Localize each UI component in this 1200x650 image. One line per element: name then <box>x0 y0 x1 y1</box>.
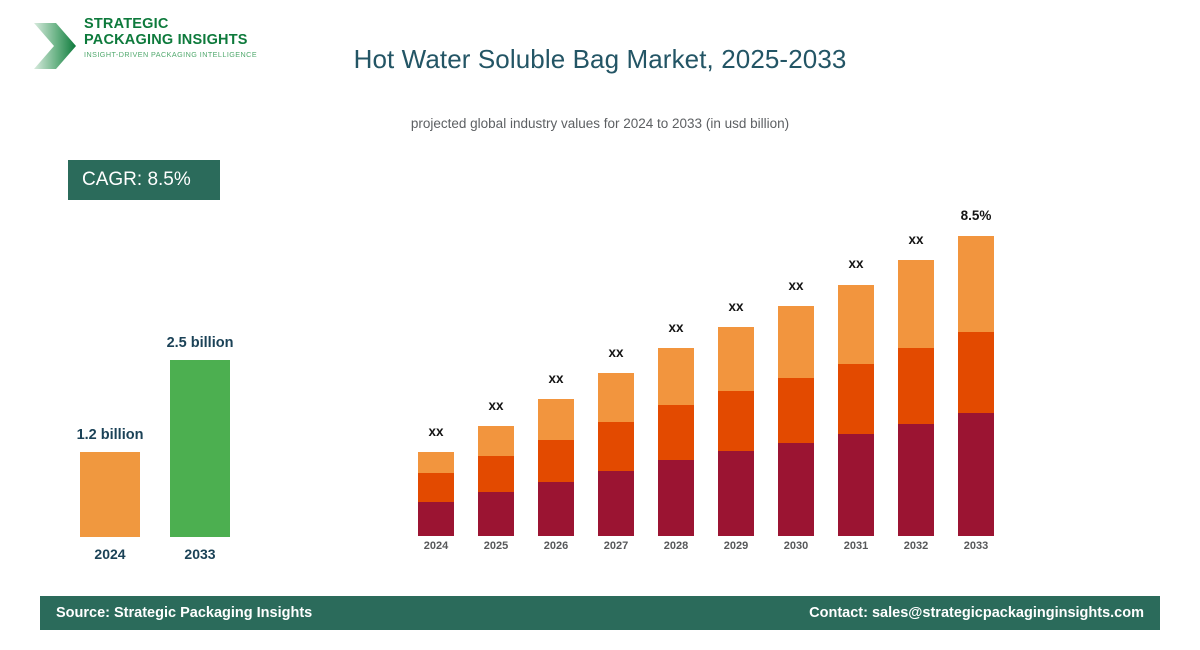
stacked-segment-segment-1-2027 <box>598 471 634 536</box>
stacked-value-label-2030: xx <box>756 278 836 293</box>
comparison-bar-2024 <box>80 452 140 537</box>
stacked-segment-segment-1-2026 <box>538 482 574 536</box>
comparison-value-label-2024: 1.2 billion <box>60 427 160 443</box>
footer-contact: Contact: sales@strategicpackaginginsight… <box>809 605 1144 621</box>
stacked-value-label-2029: xx <box>696 299 776 314</box>
stacked-bar-2032 <box>898 260 934 536</box>
stacked-segment-segment-3-2029 <box>718 327 754 391</box>
stacked-value-label-2025: xx <box>456 398 536 413</box>
comparison-value-label-2033: 2.5 billion <box>150 335 250 351</box>
stacked-segment-segment-1-2031 <box>838 434 874 536</box>
stacked-segment-segment-3-2033 <box>958 236 994 332</box>
footer-bar: Source: Strategic Packaging Insights Con… <box>40 596 1160 630</box>
stacked-value-label-2028: xx <box>636 320 716 335</box>
stacked-bar-2033 <box>958 236 994 536</box>
stacked-segment-segment-1-2033 <box>958 413 994 536</box>
stacked-segment-segment-3-2024 <box>418 452 454 473</box>
stacked-value-label-2026: xx <box>516 371 596 386</box>
stacked-segment-segment-1-2029 <box>718 451 754 536</box>
stacked-segment-segment-2-2033 <box>958 332 994 413</box>
comparison-axis-label-2033: 2033 <box>150 546 250 562</box>
stacked-segment-segment-1-2028 <box>658 460 694 536</box>
stacked-bar-2027 <box>598 373 634 536</box>
stacked-value-label-2027: xx <box>576 345 656 360</box>
stacked-value-label-2031: xx <box>816 256 896 271</box>
stacked-segment-segment-3-2031 <box>838 285 874 364</box>
stacked-bar-2026 <box>538 399 574 536</box>
comparison-axis-label-2024: 2024 <box>60 546 160 562</box>
stacked-axis-label-2033: 2033 <box>936 540 1016 552</box>
stacked-bar-2029 <box>718 327 754 536</box>
stacked-bar-2024 <box>418 452 454 536</box>
stacked-segment-segment-3-2032 <box>898 260 934 348</box>
stacked-bar-chart: xx2024xx2025xx2026xx2027xx2028xx2029xx20… <box>400 0 1020 650</box>
stacked-bar-2030 <box>778 306 814 536</box>
stacked-segment-segment-1-2025 <box>478 492 514 536</box>
footer-source: Source: Strategic Packaging Insights <box>56 605 312 621</box>
stacked-segment-segment-1-2024 <box>418 502 454 536</box>
stacked-segment-segment-2-2025 <box>478 456 514 492</box>
stacked-segment-segment-2-2032 <box>898 348 934 424</box>
comparison-bar-chart: 1.2 billion20242.5 billion2033 <box>0 0 320 650</box>
stacked-segment-segment-2-2024 <box>418 473 454 502</box>
stacked-segment-segment-3-2030 <box>778 306 814 378</box>
stacked-segment-segment-2-2030 <box>778 378 814 443</box>
stacked-segment-segment-1-2032 <box>898 424 934 536</box>
stacked-segment-segment-2-2028 <box>658 405 694 460</box>
stacked-segment-segment-3-2025 <box>478 426 514 456</box>
stacked-segment-segment-3-2028 <box>658 348 694 405</box>
stacked-value-label-2024: xx <box>396 424 476 439</box>
stacked-bar-2031 <box>838 285 874 536</box>
stacked-segment-segment-2-2029 <box>718 391 754 451</box>
stacked-segment-segment-2-2027 <box>598 422 634 471</box>
stacked-segment-segment-1-2030 <box>778 443 814 536</box>
stacked-bar-2028 <box>658 348 694 536</box>
stacked-value-label-2033: 8.5% <box>936 208 1016 223</box>
stacked-segment-segment-3-2026 <box>538 399 574 440</box>
comparison-bar-2033 <box>170 360 230 537</box>
stacked-value-label-2032: xx <box>876 232 956 247</box>
stacked-segment-segment-2-2031 <box>838 364 874 434</box>
stacked-segment-segment-2-2026 <box>538 440 574 482</box>
stacked-segment-segment-3-2027 <box>598 373 634 422</box>
stacked-bar-2025 <box>478 426 514 536</box>
